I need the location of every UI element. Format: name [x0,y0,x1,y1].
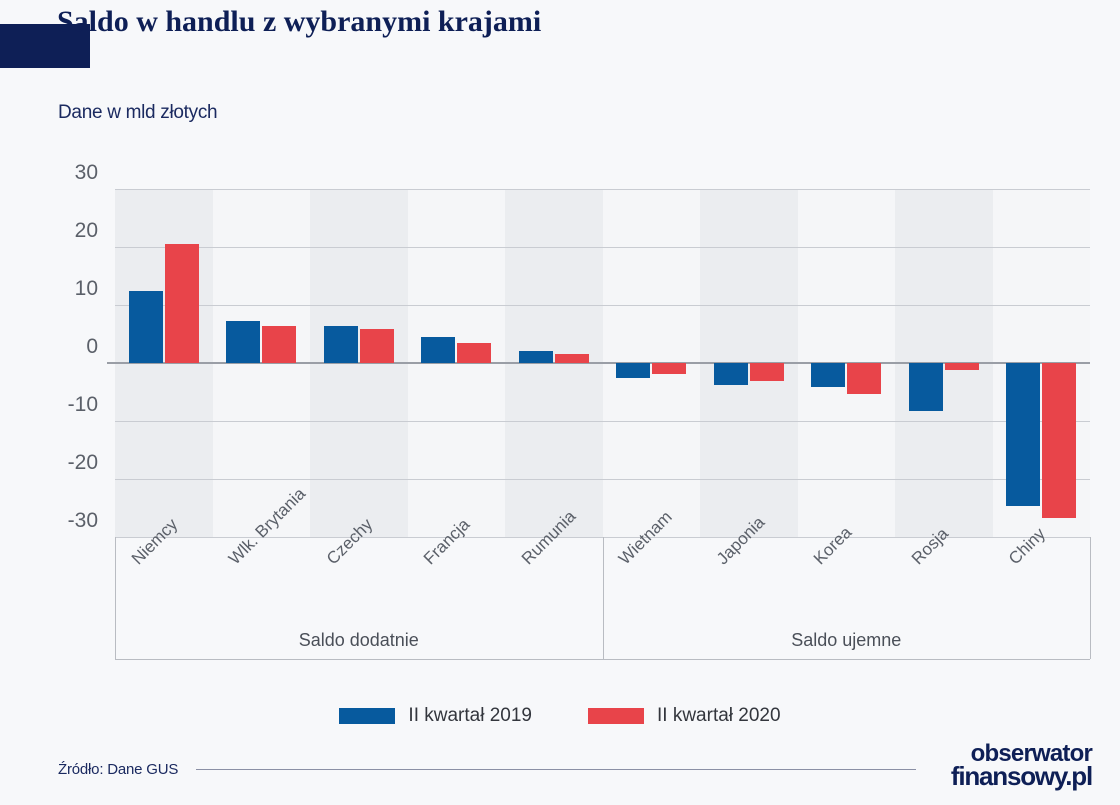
bar-rumunia-2019 [519,351,553,363]
y-tick-label: 10 [28,277,98,301]
y-tick-label: 0 [28,335,98,359]
group-label: Saldo ujemne [603,630,1091,651]
bar-wietnam-2020 [652,363,686,374]
source-note: Źródło: Dane GUS [58,761,178,778]
legend-item: II kwartał 2019 [339,705,532,727]
y-tick-label: -10 [28,393,98,417]
y-tick-label: -30 [28,509,98,533]
gridline [115,189,1090,190]
group-label: Saldo dodatnie [115,630,603,651]
bar-niemcy-2019 [129,291,163,364]
group-baseline [603,659,1091,660]
bar-rumunia-2020 [555,354,589,363]
bar-japonia-2020 [750,363,784,381]
y-tick-label: 30 [28,161,98,185]
legend-swatch [339,708,395,724]
y-tick-label: -20 [28,451,98,475]
legend-swatch [588,708,644,724]
footer-rule [196,769,916,770]
gridline [115,421,1090,422]
legend-item: II kwartał 2020 [588,705,781,727]
bar-chiny-2020 [1042,363,1076,518]
bar-wietnam-2019 [616,363,650,378]
chart-footer: Źródło: Dane GUS obserwator finansowy.pl [0,755,1120,799]
bar-chiny-2019 [1006,363,1040,506]
legend-label: II kwartał 2019 [408,705,532,727]
bar-francja-2019 [421,337,455,363]
gridline [115,247,1090,248]
chart-plot-area [115,189,1090,537]
bar-francja-2020 [457,343,491,363]
chart-legend: II kwartał 2019II kwartał 2020 [0,705,1120,727]
brand-logo-bottom: finansowy.pl [951,765,1092,789]
group-separator [1090,537,1091,659]
legend-label: II kwartał 2020 [657,705,781,727]
bar-niemcy-2020 [165,244,199,363]
brand-logo: obserwator finansowy.pl [951,743,1092,789]
bar-japonia-2019 [714,363,748,385]
group-baseline [115,659,603,660]
chart-subtitle: Dane w mld złotych [58,102,217,124]
bar-rosja-2019 [909,363,943,411]
gridline [115,479,1090,480]
bar-wlkbrytania-2019 [226,321,260,363]
bar-korea-2019 [811,363,845,387]
bar-rosja-2020 [945,363,979,370]
page-title: Saldo w handlu z wybranymi krajami [57,0,541,44]
bar-korea-2020 [847,363,881,394]
gridline [115,305,1090,306]
bar-czechy-2020 [360,329,394,363]
bar-czechy-2019 [324,326,358,363]
bar-wlkbrytania-2020 [262,326,296,363]
y-tick-label: 20 [28,219,98,243]
